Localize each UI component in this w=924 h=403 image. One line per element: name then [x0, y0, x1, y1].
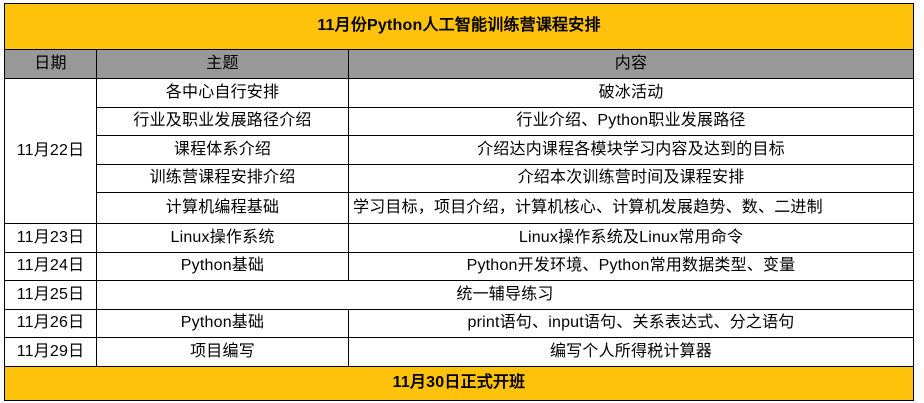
row-content: print语句、input语句、关系表达式、分之语句 — [349, 309, 914, 338]
row-content: 介绍达内课程各模块学习内容及达到的目标 — [349, 136, 914, 165]
table-row: 11月25日 统一辅导练习 — [5, 281, 914, 310]
row-topic: 项目编写 — [97, 338, 349, 367]
row-content: 破冰活动 — [349, 79, 914, 108]
table-row: 计算机编程基础 学习目标，项目介绍，计算机核心、计算机发展趋势、数、二进制 — [5, 193, 914, 224]
row-topic: 行业及职业发展路径介绍 — [97, 107, 349, 136]
column-header-topic: 主题 — [97, 50, 349, 79]
column-header-row: 日期 主题 内容 — [5, 50, 914, 79]
table-row: 课程体系介绍 介绍达内课程各模块学习内容及达到的目标 — [5, 136, 914, 165]
row-date: 11月23日 — [5, 224, 97, 253]
row-date: 11月25日 — [5, 281, 97, 310]
table-row: 行业及职业发展路径介绍 行业介绍、Python职业发展路径 — [5, 107, 914, 136]
schedule-document: 11月份Python人工智能训练营课程安排 日期 主题 内容 11月22日 各中… — [0, 0, 924, 403]
row-content: 行业介绍、Python职业发展路径 — [349, 107, 914, 136]
row-content: 编写个人所得税计算器 — [349, 338, 914, 367]
row-date: 11月26日 — [5, 309, 97, 338]
row-content: Linux操作系统及Linux常用命令 — [349, 224, 914, 253]
title-row: 11月份Python人工智能训练营课程安排 — [5, 4, 914, 50]
table-row: 训练营课程安排介绍 介绍本次训练营时间及课程安排 — [5, 164, 914, 193]
table-row: 11月22日 各中心自行安排 破冰活动 — [5, 79, 914, 108]
row-topic: 各中心自行安排 — [97, 79, 349, 108]
course-schedule-table: 11月份Python人工智能训练营课程安排 日期 主题 内容 11月22日 各中… — [4, 3, 914, 401]
row-content-merged: 统一辅导练习 — [97, 281, 914, 310]
footer-row: 11月30日正式开班 — [5, 367, 914, 401]
row-content: 学习目标，项目介绍，计算机核心、计算机发展趋势、数、二进制 — [349, 193, 914, 224]
schedule-table-body: 11月份Python人工智能训练营课程安排 日期 主题 内容 11月22日 各中… — [5, 4, 914, 401]
document-title: 11月份Python人工智能训练营课程安排 — [5, 4, 914, 50]
row-date: 11月29日 — [5, 338, 97, 367]
table-row: 11月26日 Python基础 print语句、input语句、关系表达式、分之… — [5, 309, 914, 338]
row-topic: Python基础 — [97, 252, 349, 281]
footer-note: 11月30日正式开班 — [5, 367, 914, 401]
row-topic: 课程体系介绍 — [97, 136, 349, 165]
table-row: 11月24日 Python基础 Python开发环境、Python常用数据类型、… — [5, 252, 914, 281]
row-date: 11月24日 — [5, 252, 97, 281]
row-date: 11月22日 — [5, 79, 97, 224]
table-row: 11月29日 项目编写 编写个人所得税计算器 — [5, 338, 914, 367]
table-row: 11月23日 Linux操作系统 Linux操作系统及Linux常用命令 — [5, 224, 914, 253]
row-content: 介绍本次训练营时间及课程安排 — [349, 164, 914, 193]
row-topic: Linux操作系统 — [97, 224, 349, 253]
row-topic: Python基础 — [97, 309, 349, 338]
row-content: Python开发环境、Python常用数据类型、变量 — [349, 252, 914, 281]
column-header-content: 内容 — [349, 50, 914, 79]
column-header-date: 日期 — [5, 50, 97, 79]
row-topic: 计算机编程基础 — [97, 193, 349, 224]
row-topic: 训练营课程安排介绍 — [97, 164, 349, 193]
